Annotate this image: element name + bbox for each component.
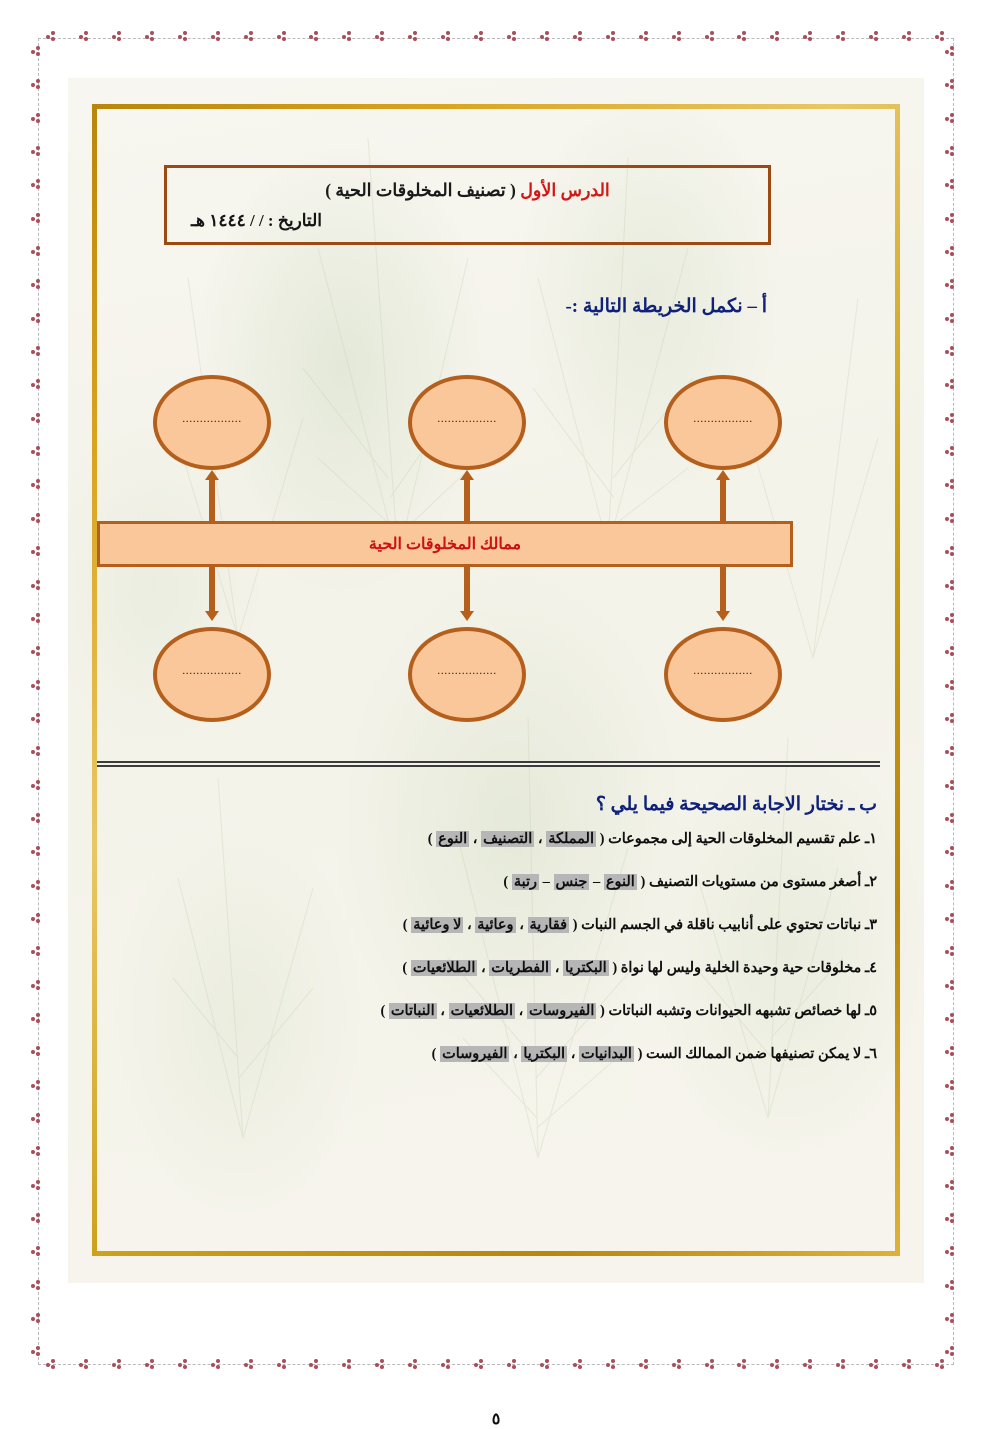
flower-motif-icon — [945, 1080, 956, 1091]
flower-motif-icon — [211, 1359, 222, 1370]
flower-motif-icon — [606, 1359, 617, 1370]
flower-motif-icon — [211, 31, 222, 42]
flower-motif-icon — [507, 31, 518, 42]
flower-motif-icon — [606, 31, 617, 42]
section-b-heading: ب ـ نختار الاجابة الصحيحة فيما يلي ؟ — [117, 793, 877, 816]
flower-motif-icon — [31, 346, 42, 357]
flower-motif-icon — [31, 1013, 42, 1024]
option-separator: ، — [463, 917, 475, 933]
flower-motif-icon — [31, 113, 42, 124]
flower-motif-icon — [737, 31, 748, 42]
answer-option[interactable]: النباتات — [389, 1003, 437, 1019]
answer-option[interactable]: النوع — [436, 831, 469, 847]
flower-motif-icon — [31, 1280, 42, 1291]
flower-motif-icon — [309, 1359, 320, 1370]
flower-motif-icon — [31, 79, 42, 90]
concept-map-diagram: ................. ................. ....… — [97, 375, 895, 725]
flower-motif-icon — [31, 913, 42, 924]
question-item[interactable]: ١ـ علم تقسيم المخلوقات الحية إلى مجموعات… — [117, 831, 877, 848]
flower-motif-icon — [945, 646, 956, 657]
flower-motif-icon — [540, 1359, 551, 1370]
flower-motif-icon — [945, 813, 956, 824]
flower-motif-icon — [31, 1080, 42, 1091]
lesson-title-line: الدرس الأول ( تصنيف المخلوقات الحية ) — [185, 177, 750, 203]
arrow-down-1 — [205, 567, 219, 621]
flower-motif-icon — [705, 1359, 716, 1370]
question-number: ٥ـ — [861, 1003, 877, 1019]
flower-motif-icon — [639, 31, 650, 42]
flower-motif-icon — [31, 146, 42, 157]
flower-motif-icon — [803, 31, 814, 42]
flower-motif-icon — [408, 31, 419, 42]
flower-motif-icon — [31, 1146, 42, 1157]
answer-option[interactable]: رتبة — [512, 874, 539, 890]
question-number: ٢ـ — [861, 874, 877, 890]
flower-motif-icon — [945, 1013, 956, 1024]
options-close-paren: ) — [432, 1046, 440, 1062]
flower-motif-icon — [672, 31, 683, 42]
flower-motif-icon — [408, 1359, 419, 1370]
option-separator: – — [589, 874, 604, 890]
flower-motif-icon — [902, 1359, 913, 1370]
flower-motif-icon — [31, 746, 42, 757]
flower-motif-icon — [31, 246, 42, 257]
flower-motif-icon — [79, 1359, 90, 1370]
flower-motif-icon — [31, 1180, 42, 1191]
arrow-down-2 — [460, 567, 474, 621]
flower-motif-icon — [31, 46, 42, 57]
flower-motif-icon — [46, 31, 57, 42]
answer-option[interactable]: الفطريات — [489, 960, 551, 976]
flower-motif-icon — [672, 1359, 683, 1370]
flower-motif-icon — [945, 1146, 956, 1157]
lesson-label: الدرس الأول — [520, 180, 610, 200]
map-blank-node-bottom-1[interactable]: ................. — [153, 627, 271, 722]
option-separator: ، — [567, 1046, 579, 1062]
flower-motif-icon — [945, 246, 956, 257]
flower-motif-icon — [935, 1359, 946, 1370]
multiple-choice-question-list: ١ـ علم تقسيم المخلوقات الحية إلى مجموعات… — [117, 831, 877, 1089]
flower-motif-icon — [31, 479, 42, 490]
flower-motif-icon — [31, 1313, 42, 1324]
flower-motif-icon — [945, 913, 956, 924]
flower-motif-icon — [31, 1346, 42, 1357]
flower-motif-icon — [31, 646, 42, 657]
flower-motif-icon — [31, 1213, 42, 1224]
question-stem: علم تقسيم المخلوقات الحية إلى مجموعات — [604, 831, 861, 847]
option-separator: ، — [516, 917, 528, 933]
flower-motif-icon — [945, 680, 956, 691]
option-separator: ، — [477, 960, 489, 976]
flower-motif-icon — [277, 1359, 288, 1370]
flower-motif-icon — [342, 31, 353, 42]
flower-motif-icon — [945, 1246, 956, 1257]
option-separator: ، — [509, 1046, 521, 1062]
flower-motif-icon — [869, 1359, 880, 1370]
flower-motif-icon — [945, 746, 956, 757]
flower-motif-icon — [945, 213, 956, 224]
flower-motif-icon — [31, 546, 42, 557]
question-number: ٤ـ — [861, 960, 877, 976]
flower-motif-icon — [277, 31, 288, 42]
flower-motif-icon — [31, 413, 42, 424]
flower-motif-icon — [375, 1359, 386, 1370]
flower-motif-icon — [31, 713, 42, 724]
flower-motif-icon — [31, 1046, 42, 1057]
flower-motif-icon — [945, 1180, 956, 1191]
blank-line: ................. — [182, 663, 242, 678]
question-stem: أصغر مستوى من مستويات التصنيف — [645, 874, 861, 890]
date-field[interactable]: التاريخ : / / ١٤٤٤ هـ — [185, 211, 750, 231]
page-number: ٥ — [97, 1409, 895, 1429]
flower-motif-icon — [31, 846, 42, 857]
question-item[interactable]: ٥ـ لها خصائص تشبهه الحيوانات وتشبه النبا… — [117, 1003, 877, 1020]
lesson-title: ( تصنيف المخلوقات الحية ) — [325, 180, 520, 200]
question-number: ١ـ — [861, 831, 877, 847]
border-motif-row-bottom — [46, 1359, 946, 1370]
flower-motif-icon — [31, 580, 42, 591]
option-separator: ، — [469, 831, 481, 847]
flower-motif-icon — [945, 846, 956, 857]
map-blank-node-top-1[interactable]: ................. — [153, 375, 271, 470]
flower-motif-icon — [31, 379, 42, 390]
options-open-paren: ( — [609, 960, 617, 976]
question-item[interactable]: ٤ـ مخلوقات حية وحيدة الخلية وليس لها نوا… — [117, 960, 877, 977]
options-close-paren: ) — [403, 917, 411, 933]
flower-motif-icon — [945, 946, 956, 957]
flower-motif-icon — [31, 780, 42, 791]
options-close-paren: ) — [402, 960, 410, 976]
flower-motif-icon — [945, 79, 956, 90]
worksheet-content: الدرس الأول ( تصنيف المخلوقات الحية ) ال… — [97, 109, 895, 1251]
arrow-up-2 — [460, 470, 474, 522]
question-item[interactable]: ٢ـ أصغر مستوى من مستويات التصنيف ( النوع… — [117, 874, 877, 891]
question-stem: لها خصائص تشبهه الحيوانات وتشبه النباتات — [605, 1003, 861, 1019]
flower-motif-icon — [178, 1359, 189, 1370]
flower-motif-icon — [31, 446, 42, 457]
question-stem: نباتات تحتوي على أنابيب ناقلة في الجسم ا… — [577, 917, 861, 933]
flower-motif-icon — [244, 31, 255, 42]
answer-option[interactable]: التصنيف — [481, 831, 534, 847]
flower-motif-icon — [31, 279, 42, 290]
blank-line: ................. — [182, 411, 242, 426]
option-separator: – — [539, 874, 554, 890]
option-separator: ، — [534, 831, 546, 847]
flower-motif-icon — [31, 179, 42, 190]
flower-motif-icon — [945, 146, 956, 157]
flower-motif-icon — [375, 31, 386, 42]
flower-motif-icon — [945, 446, 956, 457]
section-a-heading: أ – نكمل الخريطة التالية :- — [565, 295, 767, 318]
flower-motif-icon — [869, 31, 880, 42]
flower-motif-icon — [145, 1359, 156, 1370]
flower-motif-icon — [639, 1359, 650, 1370]
answer-option[interactable]: لا وعائية — [411, 917, 463, 933]
flower-motif-icon — [945, 1113, 956, 1124]
flower-motif-icon — [945, 279, 956, 290]
map-blank-node-bottom-3[interactable]: ................. — [664, 627, 782, 722]
flower-motif-icon — [945, 413, 956, 424]
flower-motif-icon — [474, 1359, 485, 1370]
arrow-down-3 — [716, 567, 730, 621]
flower-motif-icon — [244, 1359, 255, 1370]
flower-motif-icon — [770, 31, 781, 42]
flower-motif-icon — [945, 546, 956, 557]
map-blank-node-top-3[interactable]: ................. — [664, 375, 782, 470]
flower-motif-icon — [737, 1359, 748, 1370]
flower-motif-icon — [31, 813, 42, 824]
arrow-up-3 — [716, 470, 730, 522]
question-item[interactable]: ٦ـ لا يمكن تصنيفها ضمن الممالك الست ( ال… — [117, 1046, 877, 1063]
map-center-label: ممالك المخلوقات الحية — [369, 534, 521, 554]
flower-motif-icon — [31, 946, 42, 957]
flower-motif-icon — [705, 31, 716, 42]
answer-option[interactable]: الطلائعيات — [411, 960, 477, 976]
flower-motif-icon — [945, 1346, 956, 1357]
flower-motif-icon — [770, 1359, 781, 1370]
flower-motif-icon — [441, 1359, 452, 1370]
answer-option[interactable]: وعائية — [475, 917, 515, 933]
flower-motif-icon — [31, 880, 42, 891]
map-blank-node-bottom-2[interactable]: ................. — [408, 627, 526, 722]
flower-motif-icon — [540, 31, 551, 42]
answer-option[interactable]: الفيروسات — [527, 1003, 596, 1019]
flower-motif-icon — [46, 1359, 57, 1370]
flower-motif-icon — [945, 346, 956, 357]
flower-motif-icon — [945, 980, 956, 991]
flower-motif-icon — [31, 313, 42, 324]
blank-line: ................. — [437, 411, 497, 426]
map-center-label-box: ممالك المخلوقات الحية — [97, 521, 793, 567]
flower-motif-icon — [945, 479, 956, 490]
flower-motif-icon — [31, 613, 42, 624]
blank-line: ................. — [693, 411, 753, 426]
flower-motif-icon — [945, 1213, 956, 1224]
flower-motif-icon — [945, 1280, 956, 1291]
blank-line: ................. — [437, 663, 497, 678]
flower-motif-icon — [112, 31, 123, 42]
map-blank-node-top-2[interactable]: ................. — [408, 375, 526, 470]
flower-motif-icon — [945, 713, 956, 724]
answer-option[interactable]: الطلائعيات — [449, 1003, 515, 1019]
flower-motif-icon — [31, 980, 42, 991]
border-motif-row-top — [46, 31, 946, 42]
lesson-title-box: الدرس الأول ( تصنيف المخلوقات الحية ) ال… — [164, 165, 771, 245]
question-stem: لا يمكن تصنيفها ضمن الممالك الست — [642, 1046, 861, 1062]
flower-motif-icon — [945, 113, 956, 124]
flower-motif-icon — [441, 31, 452, 42]
answer-option[interactable]: فقارية — [528, 917, 570, 933]
flower-motif-icon — [945, 880, 956, 891]
options-close-paren: ) — [380, 1003, 388, 1019]
flower-motif-icon — [902, 31, 913, 42]
flower-motif-icon — [309, 31, 320, 42]
flower-motif-icon — [836, 1359, 847, 1370]
flower-motif-icon — [31, 1246, 42, 1257]
flower-motif-icon — [945, 1313, 956, 1324]
flower-motif-icon — [178, 31, 189, 42]
flower-motif-icon — [945, 179, 956, 190]
answer-option[interactable]: البكتريا — [521, 1046, 567, 1062]
flower-motif-icon — [803, 1359, 814, 1370]
flower-motif-icon — [935, 31, 946, 42]
answer-option[interactable]: الفيروسات — [440, 1046, 509, 1062]
question-number: ٦ـ — [861, 1046, 877, 1062]
option-separator: ، — [551, 960, 563, 976]
option-separator: ، — [515, 1003, 527, 1019]
flower-motif-icon — [945, 613, 956, 624]
flower-motif-icon — [474, 31, 485, 42]
flower-motif-icon — [945, 46, 956, 57]
flower-motif-icon — [342, 1359, 353, 1370]
flower-motif-icon — [31, 513, 42, 524]
flower-motif-icon — [31, 1113, 42, 1124]
flower-motif-icon — [145, 31, 156, 42]
flower-motif-icon — [573, 31, 584, 42]
flower-motif-icon — [836, 31, 847, 42]
flower-motif-icon — [31, 680, 42, 691]
options-close-paren: ) — [428, 831, 436, 847]
flower-motif-icon — [573, 1359, 584, 1370]
options-close-paren: ) — [503, 874, 511, 890]
answer-option[interactable]: البدانيات — [579, 1046, 634, 1062]
answer-option[interactable]: جنس — [554, 874, 590, 890]
flower-motif-icon — [945, 580, 956, 591]
flower-motif-icon — [945, 780, 956, 791]
question-stem: مخلوقات حية وحيدة الخلية وليس لها نواة — [617, 960, 861, 976]
flower-motif-icon — [31, 213, 42, 224]
flower-motif-icon — [945, 513, 956, 524]
answer-option[interactable]: المملكة — [546, 831, 596, 847]
flower-motif-icon — [112, 1359, 123, 1370]
arrow-up-1 — [205, 470, 219, 522]
border-motif-col-left — [31, 46, 42, 1358]
blank-line: ................. — [693, 663, 753, 678]
border-motif-col-right — [945, 46, 956, 1358]
flower-motif-icon — [945, 1046, 956, 1057]
flower-motif-icon — [945, 313, 956, 324]
answer-option[interactable]: النوع — [604, 874, 637, 890]
section-divider — [97, 761, 880, 767]
flower-motif-icon — [945, 379, 956, 390]
flower-motif-icon — [79, 31, 90, 42]
flower-motif-icon — [507, 1359, 518, 1370]
question-number: ٣ـ — [861, 917, 877, 933]
option-separator: ، — [437, 1003, 449, 1019]
options-open-paren: ( — [596, 1003, 604, 1019]
answer-option[interactable]: البكتريا — [563, 960, 609, 976]
question-item[interactable]: ٣ـ نباتات تحتوي على أنابيب ناقلة في الجس… — [117, 917, 877, 934]
